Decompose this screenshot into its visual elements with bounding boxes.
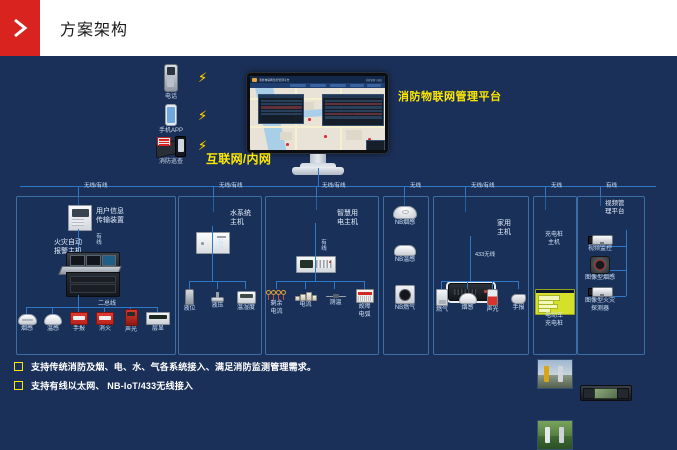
- device-label: 烟感: [457, 305, 478, 312]
- client-mobile-app-label: 手机APP: [156, 127, 186, 135]
- device-label: 故障: [353, 304, 376, 311]
- device-temp-humidity: 温湿度: [234, 291, 258, 312]
- home-bus-line: [441, 281, 519, 282]
- link-label-1: 无线/有线: [84, 181, 108, 189]
- bullet-list: 支持传统消防及烟、电、水、气各系统接入、满足消防监测管理需求。 支持有线以太网、…: [14, 360, 316, 398]
- device-label-2: 电流: [265, 309, 288, 316]
- device-smoke-detector: 烟感: [457, 293, 478, 312]
- bullet-item: 支持传统消防及烟、电、水、气各系统接入、满足消防监测管理需求。: [14, 360, 316, 373]
- link-label-2: 无线/有线: [219, 181, 243, 189]
- smartphone-icon: [165, 104, 177, 126]
- device-label: 烟感: [16, 326, 38, 333]
- wire-label-panel2: 有线: [218, 240, 224, 252]
- device-cctv-camera: 视频监控: [583, 234, 617, 253]
- two-bus-label: 二总线: [98, 298, 116, 307]
- gas-detector-icon: [436, 289, 448, 306]
- client-phone: 电话: [156, 64, 186, 101]
- device-sound-light-alarm: 声光: [120, 309, 142, 334]
- client-mobile-app: 手机APP: [156, 104, 186, 135]
- sound-light-alarm-icon: [487, 289, 498, 306]
- temperature-probe-icon: [326, 293, 346, 299]
- dashboard-map: [250, 88, 385, 150]
- temp-humidity-sensor-icon: [237, 291, 256, 304]
- device-ev-charging-pile: 电动车 充电桩: [534, 312, 574, 328]
- manual-call-point-icon: [70, 312, 88, 325]
- platform-title: 消防物联网管理平台: [398, 88, 502, 104]
- device-label: 手报: [68, 326, 90, 333]
- slide-header: 方案架构: [0, 0, 677, 56]
- network-label: 互联网/内网: [206, 150, 271, 167]
- water-system-host-label: 水系统 主机: [230, 209, 251, 227]
- cctv-camera-icon: [588, 234, 612, 245]
- residual-current-sensor-icon: [266, 290, 288, 300]
- elec-host-riser: [315, 223, 316, 281]
- device-nb-gas: NB燃气: [392, 285, 418, 312]
- device-label-2: 充电桩: [534, 321, 574, 328]
- device-label: 液位: [179, 306, 200, 313]
- device-label: 声光: [120, 327, 142, 334]
- device-label: 电流: [294, 302, 317, 309]
- dashboard-topbar-title: 消防物联网监控管理平台: [259, 78, 290, 82]
- bus-drop: [26, 307, 27, 314]
- liquid-level-sensor-icon: [185, 289, 194, 305]
- elec-bus-line: [276, 281, 365, 282]
- bullet-square-icon: [14, 381, 23, 390]
- backbone-riser: [318, 168, 319, 186]
- device-label: 燃气: [432, 307, 452, 314]
- device-sound-light-alarm: 声光: [483, 289, 502, 314]
- device-residual-current: 剩余 电流: [265, 290, 288, 316]
- fire-alarm-host-icon: [58, 252, 118, 295]
- bus-drop: [189, 281, 190, 289]
- wire-label-panel3: 有线: [321, 240, 327, 252]
- bus-drop: [364, 281, 365, 289]
- two-bus-line: [26, 307, 158, 308]
- dashboard-mini-panel: [366, 140, 385, 150]
- liquid-pressure-sensor-icon: [211, 292, 224, 302]
- link-label-7: 有线: [606, 181, 617, 189]
- current-transformer-icon: [295, 290, 317, 301]
- device-label: NB温感: [391, 257, 419, 264]
- slide-root: 方案架构 电话 ⚡ 手机APP ⚡ 消防巡查 ⚡ 消防物联网监控管理平台 系统管…: [0, 0, 677, 404]
- device-heat-detector: 温感: [42, 314, 64, 333]
- floor-display-icon: [146, 312, 170, 325]
- smoke-detector-icon: [459, 293, 477, 304]
- bus-drop: [245, 281, 246, 289]
- device-image-fire-detector: 图像型火灾 探测器: [580, 286, 620, 313]
- monitor-bezel: 消防物联网监控管理平台 系统管理 | 退出: [246, 72, 389, 154]
- smart-electricity-host-icon: [296, 256, 336, 273]
- dashboard-topbar: 消防物联网监控管理平台 系统管理 | 退出: [250, 76, 385, 83]
- device-label: 充电桩: [534, 232, 574, 239]
- wireless-bolt-icon: ⚡: [198, 72, 207, 85]
- image-smoke-detector-icon: [590, 256, 610, 274]
- device-smoke-detector: 烟感: [16, 314, 38, 333]
- client-inspection-label: 消防巡查: [152, 158, 190, 166]
- device-label-2: 探测器: [580, 306, 620, 313]
- host-to-bus-line: [78, 295, 79, 307]
- video-management-platform-icon: [580, 385, 632, 401]
- water-system-host-icon: [196, 232, 230, 254]
- bus-drop: [217, 281, 218, 289]
- bus-drop: [467, 281, 468, 289]
- device-label: 图像型烟感: [583, 275, 617, 282]
- device-label: NB燃气: [392, 305, 418, 312]
- bus-drop: [441, 281, 442, 289]
- bus-drop: [276, 281, 277, 289]
- nb-smoke-detector-icon: [393, 206, 417, 219]
- device-label-2: 主机: [534, 240, 574, 247]
- bullet-text: 支持有线以太网、 NB-IoT/433无线接入: [31, 379, 193, 392]
- bullet-text: 支持传统消防及烟、电、水、气各系统接入、满足消防监测管理需求。: [31, 360, 316, 373]
- wire-label-panel1: 有线: [96, 234, 102, 246]
- bus-drop: [52, 307, 53, 314]
- video-riser: [626, 230, 627, 296]
- device-label: NB烟感: [390, 220, 420, 227]
- bullet-item: 支持有线以太网、 NB-IoT/433无线接入: [14, 379, 316, 392]
- page-title: 方案架构: [60, 0, 128, 56]
- link-label-3: 无线/有线: [322, 181, 346, 189]
- feature-phone-icon: [164, 64, 178, 92]
- device-hydrant-button: 消火: [94, 312, 116, 333]
- bus-drop: [492, 281, 493, 289]
- device-label: 视频监控: [583, 246, 617, 253]
- device-label: 测温: [324, 300, 347, 307]
- sound-light-alarm-icon: [125, 309, 138, 326]
- client-inspection: 消防巡查: [152, 135, 190, 166]
- ev-charging-pile-photo-1: [537, 359, 573, 389]
- device-arc-fault: 故障 电弧: [353, 289, 376, 319]
- link-label-5: 无线/有线: [471, 181, 495, 189]
- device-label: 层显: [146, 326, 170, 333]
- bus-drop: [334, 281, 335, 289]
- image-fire-detector-icon: [588, 286, 612, 297]
- water-host-riser: [212, 226, 213, 281]
- arc-fault-detector-icon: [356, 289, 374, 303]
- device-label: 图像型火灾: [580, 298, 620, 305]
- smoke-detector-icon: [18, 314, 37, 325]
- hydrant-button-icon: [96, 312, 114, 325]
- panel-charging-pile: [533, 196, 577, 355]
- device-label: 温感: [42, 326, 64, 333]
- device-current-transformer: 电流: [294, 290, 317, 309]
- link-label-6: 无线: [551, 181, 562, 189]
- wireless-bolt-icon: ⚡: [198, 110, 207, 123]
- device-liquid-level: 液位: [179, 289, 200, 313]
- dashboard-right-panel: [322, 94, 384, 126]
- device-floor-display: 层显: [146, 312, 170, 333]
- device-liquid-pressure: 液压: [207, 292, 228, 310]
- smart-electricity-host-label: 智慧用 电主机: [337, 209, 358, 227]
- chevron-right-icon: [0, 0, 40, 56]
- device-manual-call-point: 手报: [68, 312, 90, 333]
- device-nb-heat: NB温感: [391, 245, 419, 264]
- device-label: 剩余: [265, 301, 288, 308]
- management-platform-monitor: 消防物联网监控管理平台 系统管理 | 退出: [246, 72, 389, 154]
- user-info-transmitter-icon: [68, 205, 92, 231]
- ev-charging-pile-photo-2: [537, 420, 573, 450]
- manual-call-point-icon: [511, 294, 526, 304]
- dashboard-left-panel: [258, 94, 304, 124]
- device-manual-call-point: 手报: [508, 294, 529, 312]
- device-label: 电动车: [534, 313, 574, 320]
- device-label: 液压: [207, 303, 228, 310]
- bullet-square-icon: [14, 362, 23, 371]
- device-temperature-probe: 测温: [324, 293, 347, 307]
- client-phone-label: 电话: [156, 93, 186, 101]
- device-label: 手报: [508, 305, 529, 312]
- inspection-device-icon: [156, 135, 186, 157]
- panel-home-host: [433, 196, 529, 355]
- dashboard-topbar-right: 系统管理 | 退出: [366, 78, 382, 82]
- device-nb-smoke: NB烟感: [390, 206, 420, 227]
- device-label: 消火: [94, 326, 116, 333]
- monitor-screen: 消防物联网监控管理平台 系统管理 | 退出: [250, 76, 385, 150]
- user-info-transmitter-label: 用户信息 传输装置: [96, 207, 124, 225]
- nb-gas-detector-icon: [395, 285, 415, 304]
- device-image-smoke-detector: 图像型烟感: [583, 256, 617, 282]
- nb-heat-detector-icon: [394, 245, 416, 256]
- heat-detector-icon: [44, 314, 62, 325]
- device-label-2: 电弧: [353, 312, 376, 319]
- charging-pile-host-label-block: 充电桩 主机: [534, 231, 574, 247]
- panel-smart-electricity: [265, 196, 379, 355]
- device-label: 声光: [483, 307, 502, 314]
- home-host-label: 家用 主机: [497, 219, 511, 237]
- dashboard-logo-icon: [252, 78, 257, 82]
- link-label-4: 无线: [410, 181, 421, 189]
- video-platform-label: 视频管 理平台: [605, 200, 625, 216]
- wire-label-panel5: 433无线: [475, 250, 495, 258]
- bus-drop: [518, 281, 519, 289]
- device-label: 温湿度: [234, 305, 258, 312]
- home-host-riser: [470, 236, 471, 281]
- device-gas-detector: 燃气: [432, 289, 452, 314]
- bus-drop: [305, 281, 306, 289]
